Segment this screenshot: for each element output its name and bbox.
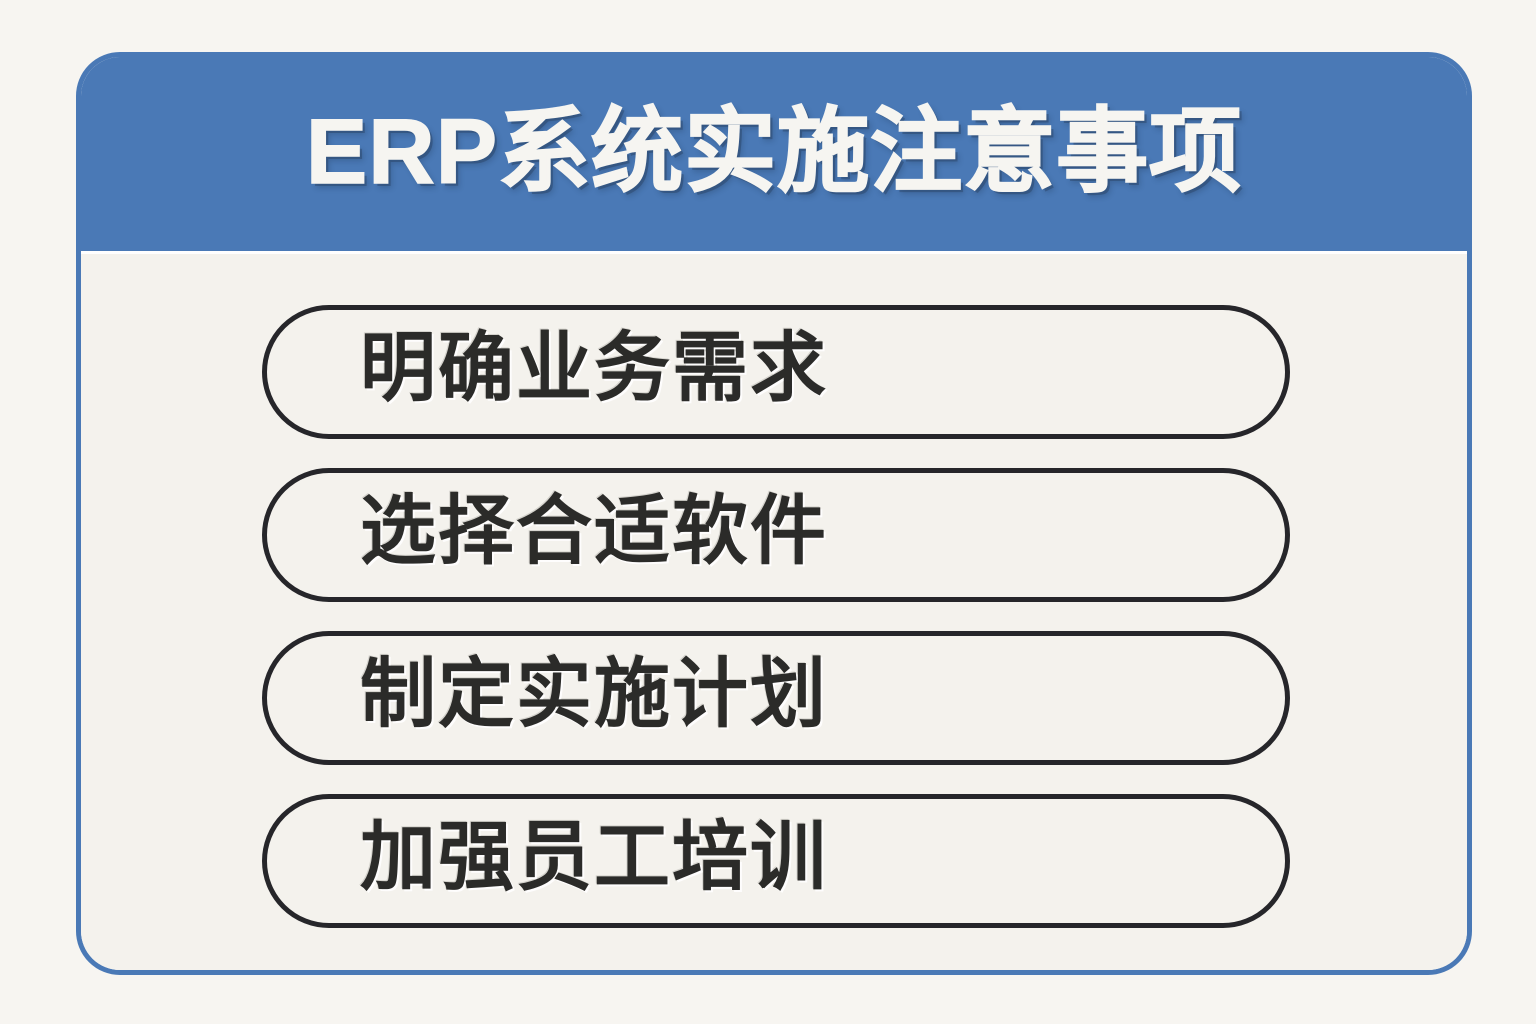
list-item-label: 制定实施计划	[360, 657, 828, 733]
list-item-label: 加强员工培训	[360, 820, 828, 896]
erp-notice-card: ERP系统实施注意事项 明确业务需求 选择合适软件 制定实施计划 加强员工培训	[76, 52, 1472, 975]
list-item[interactable]: 加强员工培训	[262, 794, 1290, 928]
list-item[interactable]: 制定实施计划	[262, 631, 1290, 765]
card-header: ERP系统实施注意事项	[81, 57, 1467, 254]
list-item-label: 选择合适软件	[360, 494, 828, 570]
list-item-label: 明确业务需求	[360, 331, 828, 407]
poster-canvas: ERP系统实施注意事项 明确业务需求 选择合适软件 制定实施计划 加强员工培训	[0, 0, 1536, 1024]
card-body: 明确业务需求 选择合适软件 制定实施计划 加强员工培训	[81, 254, 1467, 975]
page-title: ERP系统实施注意事项	[306, 106, 1242, 198]
list-item[interactable]: 选择合适软件	[262, 468, 1290, 602]
list-item[interactable]: 明确业务需求	[262, 305, 1290, 439]
notice-list: 明确业务需求 选择合适软件 制定实施计划 加强员工培训	[81, 305, 1467, 928]
